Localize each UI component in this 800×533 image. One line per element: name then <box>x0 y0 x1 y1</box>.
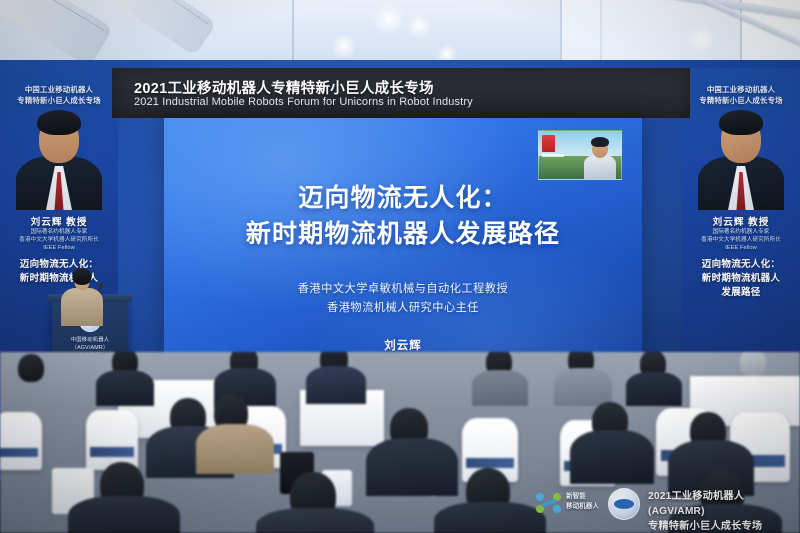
sponsor-label-line2: 移动机器人 <box>566 502 599 512</box>
header-title-cn: 2021工业移动机器人专精特新小巨人成长专场 <box>134 77 434 98</box>
credential-line2: 香港中文大学机器人研究所所长 <box>682 236 800 244</box>
slide-title-line2: 新时期物流机器人发展路径 <box>164 216 642 252</box>
ceiling-light-glow <box>406 14 432 38</box>
side-panel-heading-line2: 专精特新小巨人成长专场 <box>0 95 118 106</box>
attendee-shoulders <box>96 370 154 406</box>
side-panel-speaker-name: 刘云辉 教授 <box>682 214 800 228</box>
credential-line1: 国际著名约机器人专家 <box>0 228 118 236</box>
side-panel-topic: 迈向物流无人化： 新时期物流机器人 发展路径 <box>682 258 800 300</box>
alliance-badge-icon <box>608 488 640 520</box>
ceiling-light-glow <box>686 26 716 52</box>
ceiling-light-glow <box>372 4 406 34</box>
side-panel-heading: 中国工业移动机器人 专精特新小巨人成长专场 <box>682 84 800 106</box>
attendee-shoulders <box>68 496 180 533</box>
presenter-at-podium <box>60 268 104 326</box>
side-panel-speaker-name: 刘云辉 教授 <box>0 214 118 228</box>
portrait-hair <box>719 110 763 135</box>
slide-title-line1: 迈向物流无人化： <box>164 180 642 216</box>
presentation-slide: 迈向物流无人化： 新时期物流机器人发展路径 香港中文大学卓敏机械与自动化工程教授… <box>164 118 642 366</box>
attendee-shoulders <box>626 372 682 406</box>
attendee-head <box>740 352 766 376</box>
logo-dot <box>553 505 561 513</box>
side-panel-heading-line1: 中国工业移动机器人 <box>0 84 118 95</box>
watermark-text: 2021工业移动机器人(AGV/AMR) 专精特新小巨人成长专场 <box>648 489 798 533</box>
attendee-shoulders <box>570 430 654 484</box>
side-panel-heading-line1: 中国工业移动机器人 <box>682 84 800 95</box>
podium-text-line2: （AGV/AMR） <box>52 344 128 352</box>
side-panel-credentials: 国际著名约机器人专家 香港中文大学机器人研究所所长 IEEE Fellow <box>0 228 118 252</box>
side-panel-credentials: 国际著名约机器人专家 香港中文大学机器人研究所所长 IEEE Fellow <box>682 228 800 252</box>
topic-line1: 迈向物流无人化： <box>682 258 800 272</box>
speaker-card-right: 中国工业移动机器人 专精特新小巨人成长专场 刘云辉 教授 国际著名约机器人专家 … <box>682 68 800 368</box>
video-participant <box>583 137 617 179</box>
attendee-shoulders <box>306 366 366 404</box>
topic-line3: 发展路径 <box>682 286 800 300</box>
sponsor-logo-label: 新智能 移动机器人 <box>566 492 599 512</box>
credential-line3: IEEE Fellow <box>682 244 800 252</box>
watermark-line1: 2021工业移动机器人(AGV/AMR) <box>648 489 798 519</box>
attendee-head <box>18 354 44 382</box>
slide-subtitle: 香港中文大学卓敏机械与自动化工程教授 香港物流机械人研究中心主任 <box>164 280 642 318</box>
credential-line2: 香港中文大学机器人研究所所长 <box>0 236 118 244</box>
slide-subtitle-line2: 香港物流机械人研究中心主任 <box>164 299 642 318</box>
credential-line1: 国际著名约机器人专家 <box>682 228 800 236</box>
slide-speaker-name: 刘云辉 <box>164 337 642 353</box>
attendee-shoulders <box>554 368 612 406</box>
portrait-hair <box>37 110 81 135</box>
attendee-shoulders <box>196 424 274 474</box>
video-badge-icon <box>542 135 555 152</box>
video-caption-bar <box>542 154 564 157</box>
speaker-portrait <box>698 110 784 210</box>
ceiling-light-glow <box>330 34 358 58</box>
sponsor-logo-icon <box>536 491 562 515</box>
ceiling-duct <box>0 0 113 68</box>
side-panel-heading: 中国工业移动机器人 专精特新小巨人成长专场 <box>0 84 118 106</box>
credential-line3: IEEE Fellow <box>0 244 118 252</box>
video-participant-hair <box>591 137 609 147</box>
attendee-shoulders <box>472 370 528 406</box>
chair <box>86 410 138 470</box>
video-participant-body <box>584 155 616 179</box>
chair <box>0 412 42 470</box>
watermark-line2: 专精特新小巨人成长专场 <box>648 519 798 533</box>
event-header-band: 2021工业移动机器人专精特新小巨人成长专场 2021 Industrial M… <box>112 68 690 118</box>
slide-title: 迈向物流无人化： 新时期物流机器人发展路径 <box>164 180 642 252</box>
attendee-shoulders <box>256 508 374 533</box>
conference-photo: 中国工业移动机器人 专精特新小巨人成长专场 刘云辉 教授 国际著名约机器人专家 … <box>0 0 800 533</box>
watermark-overlay: 新智能 移动机器人 2021工业移动机器人(AGV/AMR) 专精特新小巨人成长… <box>530 482 798 530</box>
side-panel-heading-line2: 专精特新小巨人成长专场 <box>682 95 800 106</box>
presenter-body <box>61 288 103 326</box>
ceiling-duct <box>95 0 217 56</box>
video-call-inset <box>538 130 622 180</box>
logo-dot <box>536 493 544 501</box>
header-title-en: 2021 Industrial Mobile Robots Forum for … <box>134 96 473 108</box>
podium-text-line1: 中国移动机器人 <box>52 336 128 344</box>
attendee-shoulders <box>366 438 458 496</box>
topic-line2: 新时期物流机器人 <box>682 272 800 286</box>
speaker-portrait <box>16 110 102 210</box>
presenter-hair <box>73 268 92 285</box>
sponsor-label-line1: 新智能 <box>566 492 599 502</box>
slide-subtitle-line1: 香港中文大学卓敏机械与自动化工程教授 <box>164 280 642 299</box>
